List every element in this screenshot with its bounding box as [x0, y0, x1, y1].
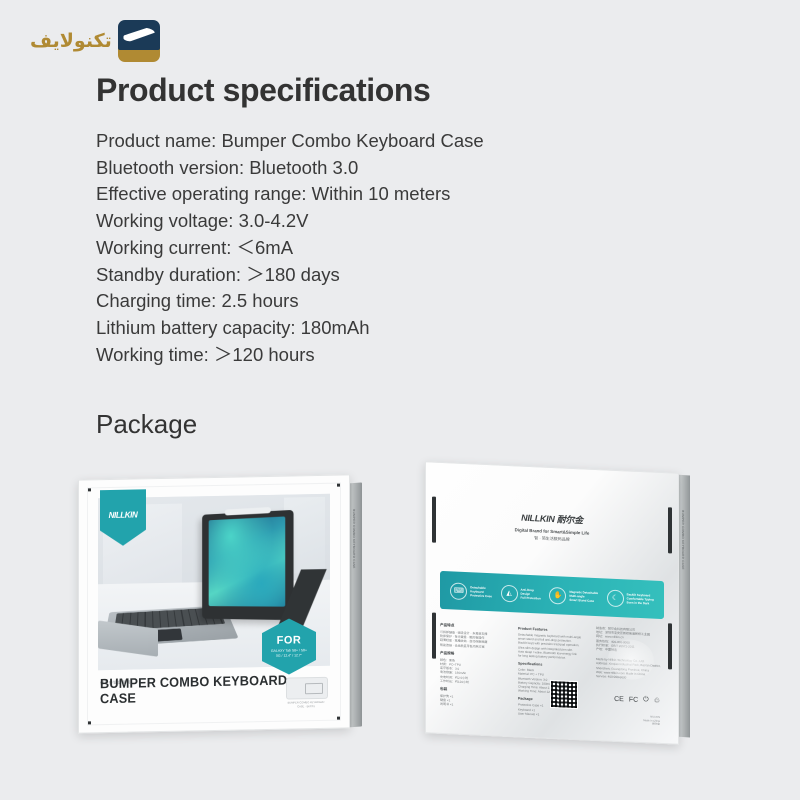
spec-item: Working time: ＞120 hours	[96, 342, 616, 369]
package-box-front: BUMPER COMBO KEYBOARD CASE	[78, 477, 348, 729]
thumbnail-caption: BUMPER COMBO KEYBOARD CASE · BKC01	[286, 701, 326, 709]
back-box-spine-text: BUMPER COMBO KEYBOARD CASE	[681, 510, 685, 570]
spec-item: Lithium battery capacity: 180mAh	[96, 315, 616, 342]
nillkin-badge-label: NILLKIN	[109, 510, 138, 520]
column-body: 保护壳 ×1 键盘 ×1 说明书 ×1	[440, 694, 508, 710]
feature-item: ◭ Anti-Drop Design Full Protection	[501, 584, 541, 603]
qr-code-icon	[550, 680, 578, 709]
spec-item: Working voltage: 3.0-4.2V	[96, 208, 616, 235]
tablet-illustration	[202, 510, 293, 620]
brand-logo[interactable]: تکنولایف	[30, 20, 160, 62]
feature-item: ✋ Magnetic Detachable Multi-angle Smart …	[549, 586, 598, 605]
recycle-mark-icon: ♲	[654, 697, 660, 705]
back-box-branding: NILLKIN 耐尔金 Digital Brand for Smart&Simp…	[426, 506, 678, 547]
for-models-text: GALAXY Tab S8+ / S8+ 5G / 12.4" / 12.7"	[271, 648, 307, 659]
front-box-spine-text: BUMPER COMBO KEYBOARD CASE	[352, 509, 356, 569]
spec-item: Working current: ＜6mA	[96, 235, 616, 262]
spec-item: Bluetooth version: Bluetooth 3.0	[96, 155, 616, 182]
page-title: Product specifications	[96, 72, 430, 109]
feature-text: Magnetic Detachable Multi-angle Smart St…	[569, 590, 598, 603]
feature-item: ☾ Backlit Keyboard Comfortable Typing Ev…	[607, 589, 654, 608]
feature-band: ⌨ Detachable Keyboard Protective Case ◭ …	[440, 571, 664, 619]
column-body: 颜色：黑色 材质：PC+TPU 蓝牙版本：3.0 电池容量：180mAh 充电时…	[440, 658, 508, 686]
moon-icon: ☾	[607, 589, 624, 607]
package-box-back: BUMPER COMBO KEYBOARD CASE NILLKIN 耐尔金 D…	[425, 467, 677, 737]
keyboard-icon: ⌨	[450, 582, 467, 600]
specifications-list: Product name: Bumper Combo Keyboard Case…	[96, 128, 616, 368]
spec-item: Standby duration: ＞180 days	[96, 262, 616, 289]
weee-mark-icon: ⏻	[643, 696, 649, 704]
package-images: BUMPER COMBO KEYBOARD CASE	[0, 455, 800, 775]
technolife-logo-icon	[118, 20, 160, 62]
brand-wordmark: تکنولایف	[30, 32, 112, 51]
product-thumbnail-icon	[286, 677, 328, 700]
front-box-thumbnail: BUMPER COMBO KEYBOARD CASE · BKC01	[286, 677, 326, 709]
spec-item: Charging time: 2.5 hours	[96, 288, 616, 315]
shield-drop-icon: ◭	[501, 584, 518, 602]
text-column: 产品特点 可拆卸键盘 · 磁吸设计 · 多角度支撑 防摔保护 · 背光键盘 · …	[440, 619, 508, 715]
feature-item: ⌨ Detachable Keyboard Protective Case	[450, 582, 492, 601]
feature-text: Detachable Keyboard Protective Case	[470, 585, 492, 598]
feature-text: Backlit Keyboard Comfortable Typing Even…	[627, 592, 654, 605]
back-box-address-note: NILLKIN Made in China 耐尔金	[643, 715, 660, 727]
spec-item: Product name: Bumper Combo Keyboard Case	[96, 128, 616, 155]
column-body: 可拆卸键盘 · 磁吸设计 · 多角度支撑 防摔保护 · 背光键盘 · 触控板操作…	[440, 630, 508, 650]
section-title-package: Package	[96, 409, 197, 440]
back-box-face: NILLKIN 耐尔金 Digital Brand for Smart&Simp…	[425, 461, 679, 745]
feature-text: Anti-Drop Design Full Protection	[521, 588, 541, 601]
hand-touch-icon: ✋	[549, 586, 566, 604]
front-box-face: NILLKIN FOR GALAXY Tab S8+ / S8+ 5G / 12…	[78, 474, 350, 733]
column-body: Detachable magnetic keyboard with multi-…	[518, 632, 586, 660]
fcc-mark-icon: FC	[629, 696, 638, 703]
spec-item: Effective operating range: Within 10 met…	[96, 181, 616, 208]
for-label: FOR	[277, 634, 302, 646]
ce-mark-icon: CE	[614, 695, 624, 702]
